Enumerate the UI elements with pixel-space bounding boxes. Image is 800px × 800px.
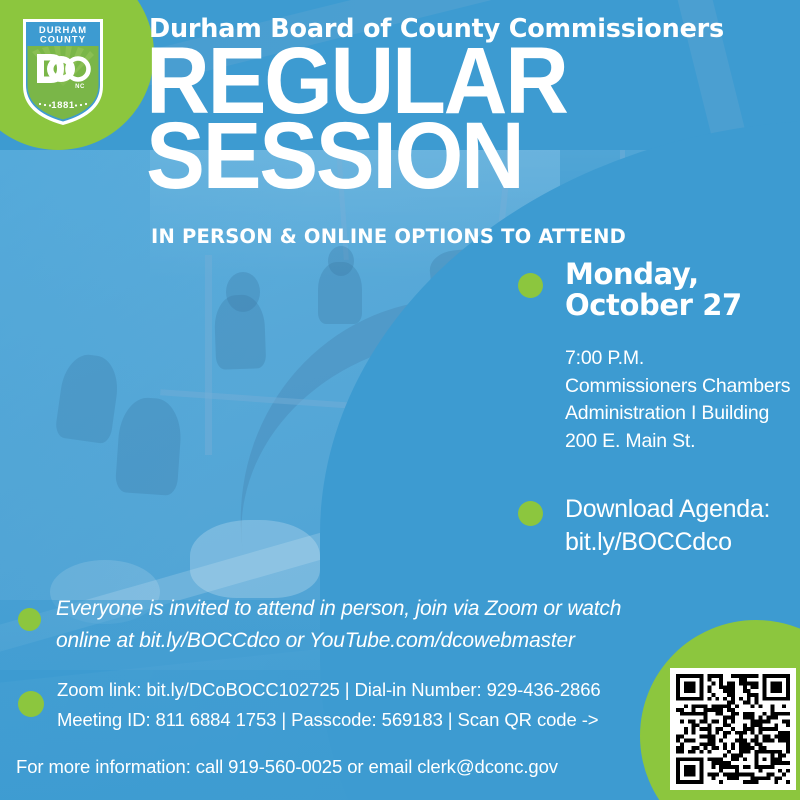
event-date-heading: Monday, October 27	[565, 259, 800, 320]
event-date: October 27	[565, 290, 800, 321]
bullet-icon-invite	[18, 608, 41, 631]
meeting-id-line: Meeting ID: 811 6884 1753 | Passcode: 56…	[57, 705, 697, 735]
logo-state: NC	[75, 84, 85, 90]
agenda-label: Download Agenda:	[565, 493, 800, 526]
durham-county-logo: DURHAM COUNTY NC 1881	[20, 16, 106, 128]
bullet-icon-agenda	[518, 501, 543, 526]
event-day: Monday,	[565, 259, 800, 290]
attendance-options-subtitle: IN PERSON & ONLINE OPTIONS TO ATTEND	[151, 225, 626, 248]
contact-information: For more information: call 919-560-0025 …	[16, 756, 716, 778]
event-location-details: 7:00 P.M. Commissioners Chambers Adminis…	[565, 345, 800, 456]
invite-line-1: Everyone is invited to attend in person,…	[56, 593, 706, 625]
title-line-2: SESSION	[146, 119, 723, 194]
bullet-icon-zoom-details	[18, 691, 44, 717]
event-address: 200 E. Main St.	[565, 428, 800, 456]
agenda-download-block: Download Agenda: bit.ly/BOCCdco	[565, 493, 800, 560]
qr-code-icon[interactable]	[676, 674, 790, 784]
zoom-connection-details: Zoom link: bit.ly/DCoBOCC102725 | Dial-i…	[57, 675, 697, 735]
invite-paragraph: Everyone is invited to attend in person,…	[56, 593, 706, 657]
event-flyer: DURHAM COUNTY NC 1881 Durham Board of Co…	[0, 0, 800, 800]
event-venue: Commissioners Chambers	[565, 373, 800, 401]
invite-line-2: online at bit.ly/BOCCdco or YouTube.com/…	[56, 625, 706, 657]
page-title: REGULAR SESSION	[146, 44, 723, 194]
qr-code-container[interactable]	[670, 668, 796, 790]
logo-line2: COUNTY	[40, 34, 86, 45]
shield-icon: DURHAM COUNTY NC 1881	[20, 16, 106, 128]
agenda-link[interactable]: bit.ly/BOCCdco	[565, 526, 800, 559]
event-building: Administration I Building	[565, 400, 800, 428]
logo-year: 1881	[51, 100, 75, 111]
bullet-icon-date	[518, 273, 543, 298]
zoom-link-line[interactable]: Zoom link: bit.ly/DCoBOCC102725 | Dial-i…	[57, 675, 697, 705]
event-time: 7:00 P.M.	[565, 345, 800, 373]
